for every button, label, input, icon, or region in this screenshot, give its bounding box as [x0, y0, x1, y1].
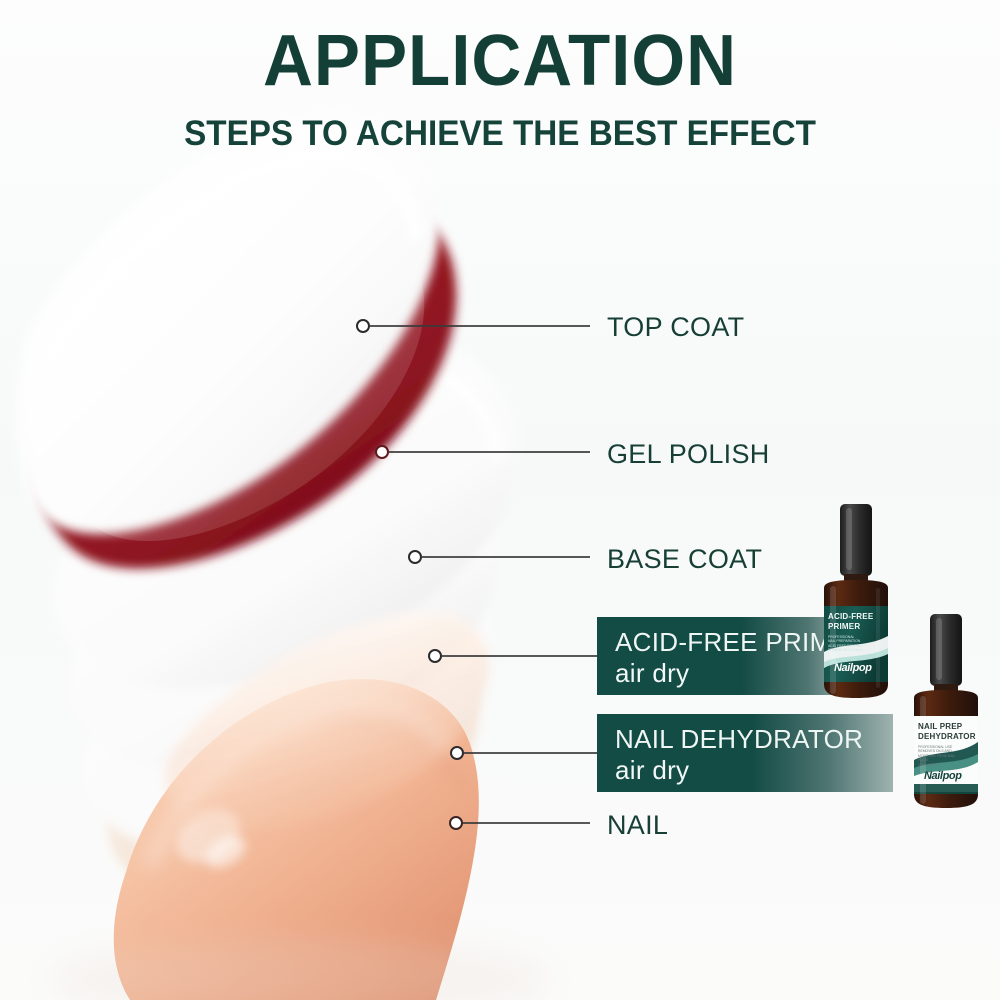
nail-prep-dehydrator-bottle[interactable]: NAIL PREP DEHYDRATOR PROFESSIONAL USE RE…	[900, 612, 992, 812]
bottle-product-line1-primer: ACID-FREE	[828, 612, 873, 621]
callout-dot-top-coat[interactable]	[356, 319, 370, 333]
callout-dot-base-coat[interactable]	[408, 550, 422, 564]
bottle-brand-dehydrator: Nailpop	[924, 770, 962, 782]
bottle-fine-print-primer: PROFESSIONAL NAIL PREPARATION ACID FREE …	[828, 635, 876, 653]
bottle-graphic-dehydrator	[900, 612, 992, 812]
callout-label-top-coat: TOP COAT	[607, 311, 744, 343]
acid-free-primer-bottle[interactable]: ACID-FREE PRIMER PROFESSIONAL NAIL PREPA…	[810, 502, 902, 702]
callout-sublabel-nail-dehydrator: air dry	[615, 755, 893, 786]
bottle-product-line2-primer: PRIMER	[828, 622, 860, 631]
leader-line-gel-polish	[389, 451, 590, 453]
page-title: APPLICATION	[20, 22, 980, 100]
leader-line-top-coat	[370, 325, 590, 327]
callout-label-nail: NAIL	[607, 809, 668, 841]
bottle-fine-print-dehydrator: PROFESSIONAL USE REMOVES OILS AND MOISTU…	[918, 745, 966, 767]
callout-dot-acid-free-primer[interactable]	[428, 649, 442, 663]
callout-band-nail-dehydrator[interactable]: NAIL DEHYDRATOR air dry	[597, 714, 893, 792]
bottle-product-line1-dehydrator: NAIL PREP	[918, 722, 962, 731]
leader-line-base-coat	[422, 556, 590, 558]
leader-line-nail	[463, 822, 590, 824]
page-subtitle: STEPS TO ACHIEVE THE BEST EFFECT	[25, 112, 975, 156]
bottle-product-line2-dehydrator: DEHYDRATOR	[918, 732, 976, 741]
poster-canvas: TOP COAT GEL POLISH BASE COAT ACID-FREE …	[0, 0, 1000, 1000]
callout-label-base-coat: BASE COAT	[607, 543, 762, 575]
callout-dot-nail-dehydrator[interactable]	[450, 746, 464, 760]
leader-line-nail-dehydrator	[464, 752, 600, 754]
callout-dot-gel-polish[interactable]	[375, 445, 389, 459]
bottle-brand-primer: Nailpop	[834, 662, 872, 674]
callout-label-nail-dehydrator: NAIL DEHYDRATOR	[615, 724, 893, 755]
callout-label-gel-polish: GEL POLISH	[607, 438, 770, 470]
callout-dot-nail[interactable]	[449, 816, 463, 830]
leader-line-acid-free-primer	[442, 655, 600, 657]
